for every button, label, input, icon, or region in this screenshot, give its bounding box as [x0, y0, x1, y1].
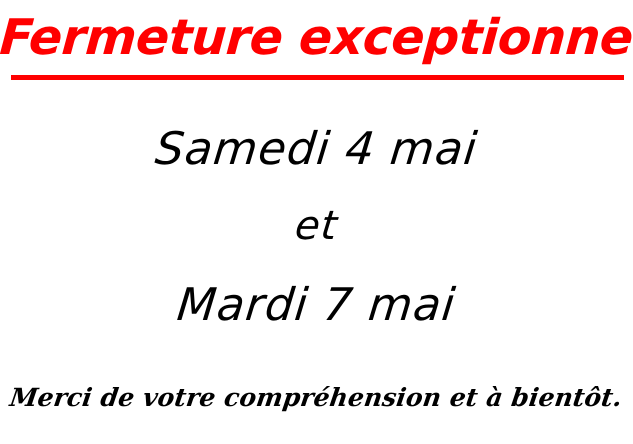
- footer-message: Merci de votre compréhension et à bientô…: [7, 378, 631, 418]
- dates-block: Samedi 4 mai et Mardi 7 mai: [0, 104, 633, 334]
- footer-block: Merci de votre compréhension et à bientô…: [10, 378, 628, 422]
- date-line-first: Samedi 4 mai: [0, 110, 633, 188]
- title-block: Fermeture exceptionnelle: [0, 8, 633, 80]
- closure-notice-poster: Fermeture exceptionnelle Samedi 4 mai et…: [0, 0, 633, 444]
- page-title: Fermeture exceptionnelle: [0, 8, 633, 68]
- date-line-second: Mardi 7 mai: [0, 266, 633, 344]
- date-conjunction: et: [0, 188, 633, 264]
- title-underline-rule: [11, 75, 624, 80]
